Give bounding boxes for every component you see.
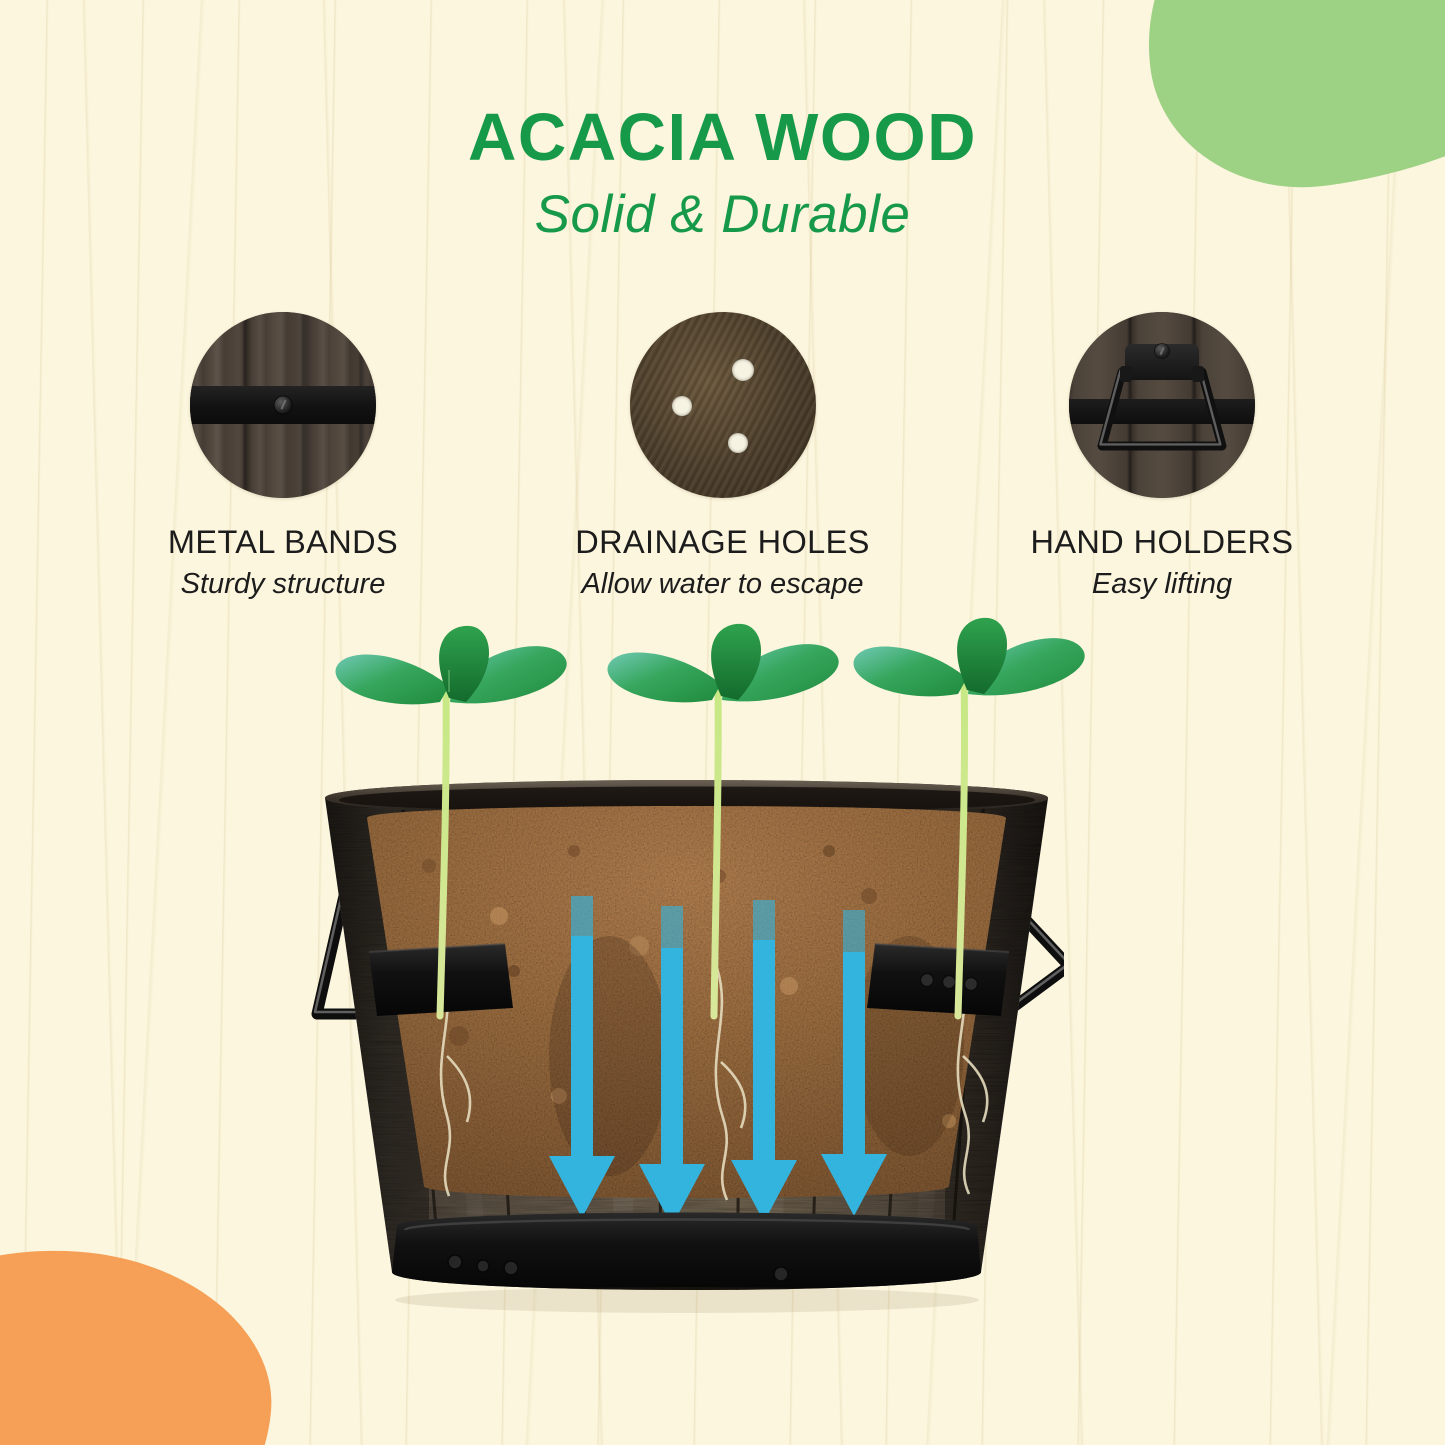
wood-base-texture [630,312,816,498]
feature-title: HAND HOLDERS [1030,524,1293,561]
feature-description: Easy lifting [1092,568,1232,601]
feature-title: METAL BANDS [168,524,398,561]
seedling [336,626,567,1016]
feature-item-hand-holders: HAND HOLDERS Easy lifting [997,312,1327,601]
wire-handle-shape [1096,362,1228,454]
drainage-holes-icon [630,312,816,498]
seedling [608,624,839,1016]
seedlings-group [0,616,1445,1356]
header: ACACIA WOOD Solid & Durable [0,104,1445,243]
metal-band-icon [190,312,376,498]
feature-title: DRAINAGE HOLES [575,524,870,561]
drainage-hole [728,433,748,453]
screw-icon [275,397,292,414]
drainage-hole [672,396,692,416]
product-illustration [0,616,1445,1356]
hand-holder-icon [1069,312,1255,498]
feature-description: Sturdy structure [181,568,386,601]
page-title: ACACIA WOOD [0,104,1445,171]
feature-list: METAL BANDS Sturdy structure DRAINAGE HO… [118,312,1327,601]
feature-item-drainage-holes: DRAINAGE HOLES Allow water to escape [558,312,888,601]
page-subtitle: Solid & Durable [0,187,1445,243]
infographic-poster: ACACIA WOOD Solid & Durable METAL BANDS … [0,0,1445,1445]
feature-description: Allow water to escape [581,568,863,601]
drainage-hole [732,359,754,381]
seedling [854,618,1085,1016]
screw-icon [1155,344,1169,358]
feature-item-metal-bands: METAL BANDS Sturdy structure [118,312,448,601]
